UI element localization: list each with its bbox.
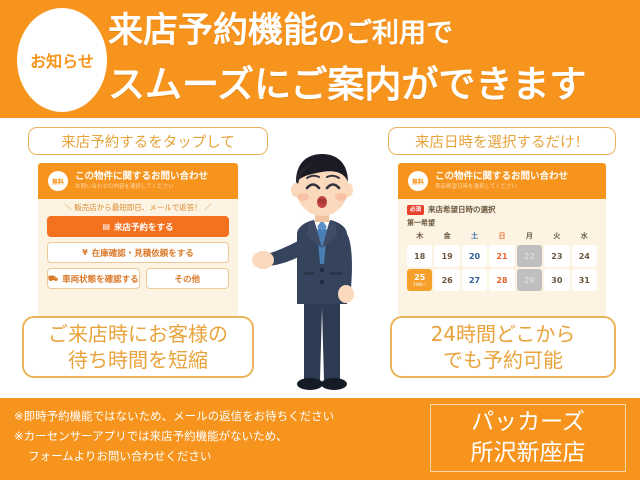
calendar-day-number: 30 bbox=[551, 276, 562, 285]
left-step-label: 来店予約するをタップして bbox=[28, 127, 268, 155]
preference-label: 第一希望 bbox=[407, 218, 597, 228]
calendar-day-number: 27 bbox=[469, 276, 480, 285]
calendar-icon: ▤ bbox=[102, 222, 110, 231]
headline-line-1-tail: のご利用で bbox=[318, 18, 453, 49]
calendar-section: 必須 来店希望日時の選択 第一希望 木金土日月火水181920212223242… bbox=[398, 199, 606, 291]
benefit-left: ご来店時にお客様の 待ち時間を短縮 bbox=[22, 316, 254, 378]
right-mock-header: 無料 この物件に関するお問い合わせ 来店希望日時を選択してください bbox=[398, 163, 606, 199]
right-mock-subtitle: 来店希望日時を選択してください bbox=[435, 183, 568, 192]
shop-name-box: パッカーズ 所沢新座店 bbox=[430, 404, 626, 472]
calendar-dow-木: 木 bbox=[407, 231, 432, 243]
right-app-mockup: 無料 この物件に関するお問い合わせ 来店希望日時を選択してください 必須 来店希… bbox=[398, 163, 606, 316]
calendar-day-time: 14時～ bbox=[413, 282, 426, 287]
calendar-grid[interactable]: 木金土日月火水181920212223242514時～262728293031 bbox=[407, 231, 597, 291]
left-mock-header: 無料 この物件に関するお問い合わせ お問い合わせの内容を選択してください bbox=[38, 163, 238, 199]
stock-quote-button[interactable]: ¥ 在庫確認・見積依頼をする bbox=[47, 242, 229, 263]
headline-line-1-main: 来店予約機能 bbox=[108, 11, 318, 51]
calendar-day-number: 18 bbox=[414, 252, 425, 261]
header-band: お知らせ 来店予約機能のご利用で スムーズにご案内ができます bbox=[0, 0, 640, 118]
calendar-day-number: 23 bbox=[551, 252, 562, 261]
car-icon: ⛟ bbox=[48, 274, 58, 284]
yen-icon: ¥ bbox=[82, 248, 88, 257]
calendar-dow-土: 土 bbox=[462, 231, 487, 243]
calendar-day-number: 22 bbox=[524, 252, 535, 261]
calendar-day-29: 29 bbox=[517, 269, 542, 291]
calendar-day-number: 19 bbox=[442, 252, 453, 261]
calendar-dow-月: 月 bbox=[517, 231, 542, 243]
stock-quote-button-label: 在庫確認・見積依頼をする bbox=[92, 247, 194, 259]
vehicle-condition-button[interactable]: ⛟ 車両状態を確認する bbox=[47, 268, 140, 289]
required-label: 来店希望日時の選択 bbox=[428, 204, 496, 215]
reserve-visit-button-label: 来店予約をする bbox=[114, 221, 174, 233]
calendar-day-number: 31 bbox=[579, 276, 590, 285]
reserve-visit-button[interactable]: ▤ 来店予約をする bbox=[47, 216, 229, 237]
disclaimer-text: ※即時予約機能ではないため、メールの返信をお待ちください ※カーセンサーアプリで… bbox=[14, 406, 414, 466]
required-badge: 必須 bbox=[407, 205, 424, 215]
left-mock-subtitle: お問い合わせの内容を選択してください bbox=[75, 183, 208, 192]
calendar-day-24[interactable]: 24 bbox=[572, 245, 597, 267]
disclaimer-line-2: ※カーセンサーアプリでは来店予約機能がないため、 bbox=[14, 426, 414, 446]
calendar-dow-日: 日 bbox=[489, 231, 514, 243]
main-content: 来店予約するをタップして 来店日時を選択するだけ！ 無料 この物件に関するお問い… bbox=[0, 118, 640, 398]
disclaimer-line-1: ※即時予約機能ではないため、メールの返信をお待ちください bbox=[14, 406, 414, 426]
calendar-day-number: 21 bbox=[496, 252, 507, 261]
footer-band: ※即時予約機能ではないため、メールの返信をお待ちください ※カーセンサーアプリで… bbox=[0, 398, 640, 480]
benefit-left-line-1: ご来店時にお客様の bbox=[48, 321, 228, 347]
header-headline: 来店予約機能のご利用で スムーズにご案内ができます bbox=[108, 6, 638, 111]
benefit-right: 24時間どこから でも予約可能 bbox=[390, 316, 616, 378]
calendar-day-28[interactable]: 28 bbox=[489, 269, 514, 291]
calendar-day-number: 24 bbox=[579, 252, 590, 261]
calendar-day-18[interactable]: 18 bbox=[407, 245, 432, 267]
calendar-day-number: 25 bbox=[414, 273, 425, 282]
calendar-dow-水: 水 bbox=[572, 231, 597, 243]
disclaimer-line-3: フォームよりお問い合わせください bbox=[14, 446, 414, 466]
calendar-day-23[interactable]: 23 bbox=[544, 245, 569, 267]
vehicle-condition-button-label: 車両状態を確認する bbox=[62, 273, 139, 285]
calendar-day-25[interactable]: 2514時～ bbox=[407, 269, 432, 291]
salesman-illustration bbox=[252, 148, 392, 398]
left-app-mockup: 無料 この物件に関するお問い合わせ お問い合わせの内容を選択してください ＼ 販… bbox=[38, 163, 238, 316]
right-step-label: 来店日時を選択するだけ！ bbox=[388, 127, 616, 155]
calendar-day-21[interactable]: 21 bbox=[489, 245, 514, 267]
benefit-left-line-2: 待ち時間を短縮 bbox=[68, 347, 208, 373]
calendar-day-26[interactable]: 26 bbox=[434, 269, 459, 291]
advertisement-banner: お知らせ 来店予約機能のご利用で スムーズにご案内ができます 来店予約するをタッ… bbox=[0, 0, 640, 480]
calendar-day-31[interactable]: 31 bbox=[572, 269, 597, 291]
calendar-day-27[interactable]: 27 bbox=[462, 269, 487, 291]
calendar-day-19[interactable]: 19 bbox=[434, 245, 459, 267]
shop-name-line-2: 所沢新座店 bbox=[471, 438, 586, 469]
calendar-day-22: 22 bbox=[517, 245, 542, 267]
benefit-right-line-1: 24時間どこから bbox=[431, 321, 576, 347]
left-mock-title: この物件に関するお問い合わせ bbox=[75, 171, 208, 183]
calendar-dow-金: 金 bbox=[434, 231, 459, 243]
benefit-right-line-2: でも予約可能 bbox=[443, 347, 563, 373]
shop-name-line-1: パッカーズ bbox=[471, 407, 585, 438]
right-mock-title: この物件に関するお問い合わせ bbox=[435, 171, 568, 183]
headline-line-2: スムーズにご案内ができます bbox=[108, 59, 638, 111]
calendar-day-30[interactable]: 30 bbox=[544, 269, 569, 291]
notice-badge-label: お知らせ bbox=[30, 48, 94, 72]
left-mock-strip: ＼ 販売店から最短即日、メールで返答！ ／ bbox=[38, 199, 238, 216]
free-badge: 無料 bbox=[48, 171, 68, 191]
calendar-day-number: 20 bbox=[469, 252, 480, 261]
calendar-dow-火: 火 bbox=[544, 231, 569, 243]
calendar-day-20[interactable]: 20 bbox=[462, 245, 487, 267]
calendar-day-number: 29 bbox=[524, 276, 535, 285]
headline-line-1: 来店予約機能のご利用で bbox=[108, 6, 638, 59]
free-badge: 無料 bbox=[408, 171, 428, 191]
other-button[interactable]: その他 bbox=[146, 268, 229, 289]
calendar-day-number: 26 bbox=[442, 276, 453, 285]
calendar-day-number: 28 bbox=[496, 276, 507, 285]
notice-badge: お知らせ bbox=[17, 8, 107, 112]
